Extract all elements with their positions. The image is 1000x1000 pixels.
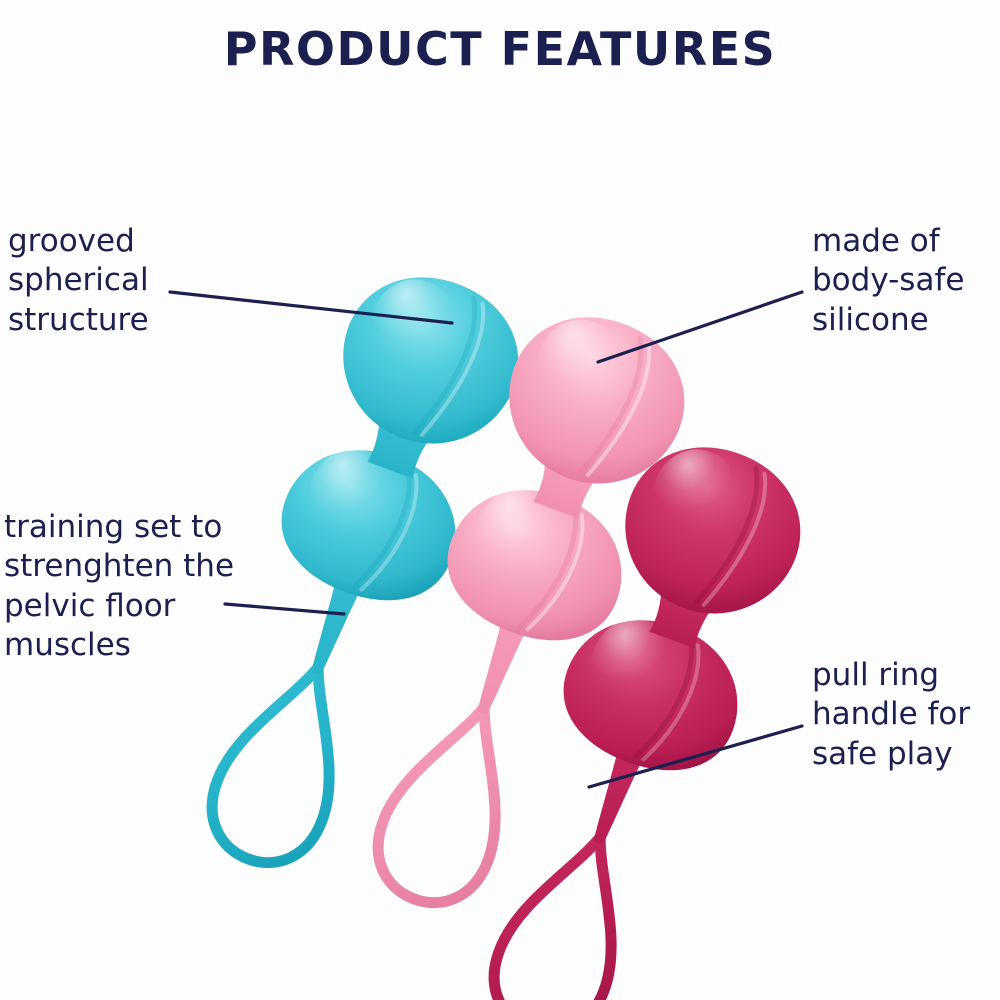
- callout-training-set: training set to strenghten the pelvic fl…: [4, 508, 334, 665]
- callout-body-safe-silicone: made of body-safe silicone: [812, 222, 1000, 340]
- pull-ring-loop-pink: [362, 688, 537, 918]
- product-features-infographic: PRODUCT FEATURES: [0, 0, 1000, 1000]
- pull-ring-loop-teal: [196, 648, 371, 878]
- pull-ring-loop-crimson: [478, 818, 653, 1000]
- callout-grooved-spherical-structure: grooved spherical structure: [8, 222, 308, 340]
- product-illustration: [0, 0, 1000, 1000]
- callout-pull-ring-handle: pull ring handle for safe play: [812, 656, 1000, 774]
